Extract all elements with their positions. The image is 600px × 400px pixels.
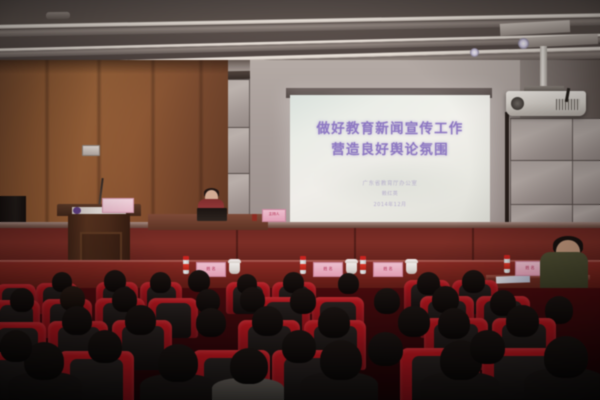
- placard-3-label: 姓 名: [374, 263, 402, 271]
- placard-2-label: 姓 名: [314, 263, 342, 271]
- spotlight-icon-2: [470, 48, 479, 57]
- audience-head: [230, 348, 268, 384]
- audience-head: [398, 306, 430, 337]
- audience-head: [196, 308, 226, 337]
- podium-emblem-icon: [73, 207, 81, 214]
- tea-cup-1: [229, 262, 240, 274]
- audience-head: [290, 288, 316, 314]
- wall-top-shadow: [0, 60, 250, 74]
- acoustic-panel-r1: [510, 118, 574, 162]
- audience-head: [374, 288, 400, 314]
- presenter-laptop: [197, 208, 227, 221]
- conference-hall-photo: 做好教育新闻宣传工作 营造良好舆论氛围 广东省教育厅办公室 赖红英 2014年1…: [0, 0, 600, 400]
- acoustic-panel-r3: [510, 160, 574, 206]
- desk-papers: [496, 275, 530, 283]
- projector-pole: [540, 46, 547, 88]
- placard-2: 姓 名: [313, 262, 343, 277]
- bottle-cap-1: [183, 256, 189, 260]
- spotlight-icon-1: [518, 38, 529, 49]
- audience-head: [158, 344, 198, 382]
- audience-head: [470, 330, 505, 364]
- presenter-cup: [252, 214, 257, 221]
- audience-head: [0, 330, 32, 362]
- projection-screen[interactable]: 做好教育新闻宣传工作 营造良好舆论氛围 广东省教育厅办公室 赖红英 2014年1…: [290, 95, 490, 222]
- ceiling-vent-icon: [46, 12, 70, 19]
- bottle-label-1: [183, 264, 189, 270]
- placard-host-label: 主持人: [263, 210, 285, 217]
- tea-cup-3: [406, 262, 417, 274]
- right-panel-edge: [505, 112, 509, 228]
- audience-head: [462, 270, 485, 293]
- bottle-cap-4: [504, 255, 510, 259]
- placard-host: 主持人: [262, 209, 286, 222]
- audience-head: [282, 330, 316, 363]
- audience-head: [320, 340, 362, 380]
- audience-head: [10, 288, 34, 312]
- wall-switch-plate[interactable]: [82, 145, 100, 156]
- audience-head: [62, 306, 92, 335]
- audience-head: [368, 332, 403, 366]
- audience-head: [544, 336, 588, 378]
- bottle-cap-2: [300, 256, 306, 260]
- bottle-cap-3: [360, 256, 366, 260]
- placard-3: 姓 名: [373, 262, 403, 277]
- audience-head: [438, 308, 470, 339]
- acoustic-panel-r2: [572, 118, 600, 162]
- audience-head: [338, 273, 359, 294]
- audience-head: [150, 272, 171, 293]
- bottle-label-2: [300, 264, 306, 270]
- slide-watermark: [310, 151, 470, 211]
- projector-lens-icon: [511, 97, 524, 110]
- tea-cup-lid-3: [405, 259, 418, 263]
- tea-cup-lid-1: [228, 259, 241, 263]
- bottle-label-4: [504, 263, 510, 269]
- podium-name-card: [102, 198, 134, 213]
- audience-head: [252, 306, 283, 336]
- slide-title-line-1: 做好教育新闻宣传工作: [290, 117, 490, 137]
- audience-head: [318, 307, 350, 338]
- audience-head: [88, 330, 122, 363]
- audience-head: [506, 305, 539, 337]
- bottle-label-3: [360, 264, 366, 270]
- audience-head: [125, 305, 156, 335]
- tea-cup-lid-2: [345, 259, 358, 263]
- acoustic-panel-r4: [572, 160, 600, 206]
